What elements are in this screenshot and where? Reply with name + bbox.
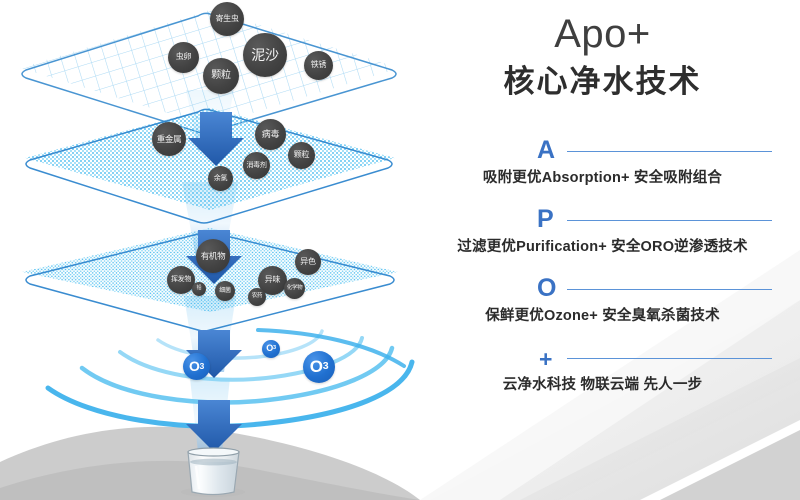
feature-head: + — [405, 347, 800, 373]
feature-rule — [567, 289, 772, 290]
poster-root: 寄生虫 泥沙 虫卵 颗粒 铁锈 重金属 病毒 颗粒 消毒剂 余氯 有机物 异色 … — [0, 0, 800, 500]
feature-item-absorption: A 吸附更优Absorption+ 安全吸附组合 — [405, 140, 800, 209]
feature-letter-plus: + — [539, 348, 552, 371]
feature-list: A 吸附更优Absorption+ 安全吸附组合 P 过滤更优Purificat… — [405, 140, 800, 416]
water-purification-diagram — [0, 0, 420, 500]
feature-text-absorption: 吸附更优Absorption+ 安全吸附组合 — [405, 166, 800, 187]
feature-head: O — [405, 278, 800, 304]
feature-letter-o: O — [537, 276, 556, 301]
feature-item-ozone: O 保鲜更优Ozone+ 安全臭氧杀菌技术 — [405, 278, 800, 347]
feature-rule — [567, 220, 772, 221]
brand-name-cn: 核心净水技术 — [405, 66, 800, 97]
feature-letter-p: P — [537, 207, 554, 232]
brand-block: Apo+ 核心净水技术 — [405, 14, 800, 97]
feature-head: P — [405, 209, 800, 235]
feature-item-purification: P 过滤更优Purification+ 安全ORO逆渗透技术 — [405, 209, 800, 278]
feature-text-plus: 云净水科技 物联云端 先人一步 — [405, 373, 800, 394]
glass-of-water — [181, 448, 245, 497]
content-panel: Apo+ 核心净水技术 A 吸附更优Absorption+ 安全吸附组合 P 过… — [405, 0, 800, 500]
feature-rule — [567, 358, 772, 359]
feature-text-purification: 过滤更优Purification+ 安全ORO逆渗透技术 — [405, 235, 800, 256]
feature-item-plus: + 云净水科技 物联云端 先人一步 — [405, 347, 800, 416]
feature-letter-a: A — [537, 138, 555, 163]
feature-text-ozone: 保鲜更优Ozone+ 安全臭氧杀菌技术 — [405, 304, 800, 325]
feature-rule — [567, 151, 772, 152]
feature-head: A — [405, 140, 800, 166]
brand-name-en: Apo+ — [405, 14, 800, 54]
